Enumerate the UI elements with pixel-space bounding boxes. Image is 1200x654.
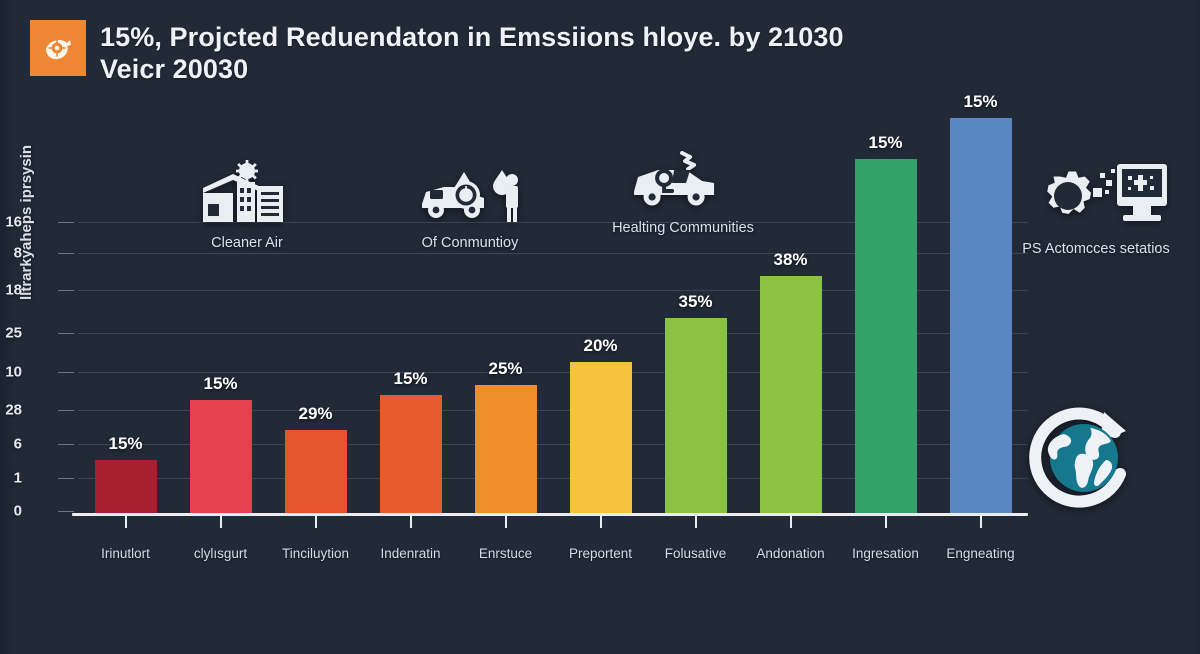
bar[interactable]: 15%	[380, 395, 442, 516]
y-tick-label: 1	[0, 470, 22, 487]
y-tick-label: 28	[0, 402, 22, 419]
title-line-1: 15%, Projcted Reduendaton in Emssiions h…	[100, 22, 844, 54]
y-tick-dash	[58, 478, 74, 479]
car-person-droplet-icon	[414, 160, 526, 227]
bar-value-label: 25%	[488, 359, 522, 379]
overlay-icon-healting-communities: Healting Communities	[612, 145, 754, 236]
y-tick-dash	[58, 222, 74, 223]
x-axis-label: Irinutlort	[101, 546, 150, 561]
overlay-icon-label: PS Actomcces setatios	[1022, 241, 1169, 257]
x-axis-label: clylısgurt	[194, 546, 247, 561]
x-tick	[220, 516, 222, 528]
x-tick	[410, 516, 412, 528]
bar[interactable]: 15%	[190, 400, 252, 516]
electric-car-icon	[628, 145, 738, 212]
x-axis-label: Tinciluytion	[282, 546, 349, 561]
y-tick-label: 0	[0, 503, 22, 520]
x-axis-label: Preportent	[569, 546, 632, 561]
bar-value-label: 15%	[203, 374, 237, 394]
y-tick-dash	[58, 511, 74, 512]
bar[interactable]: 25%	[475, 385, 537, 516]
bar[interactable]: 15%	[855, 159, 917, 516]
x-tick	[695, 516, 697, 528]
x-tick	[790, 516, 792, 528]
y-tick-dash	[58, 333, 74, 334]
bar-value-label: 15%	[393, 369, 427, 389]
x-axis-label: Enrstuce	[479, 546, 532, 561]
bar[interactable]: 29%	[285, 430, 347, 516]
x-tick	[125, 516, 127, 528]
bar[interactable]: 15%	[95, 460, 157, 516]
overlay-icon-label: Of Conmuntioy	[422, 235, 519, 251]
right-edge-vignette	[1190, 0, 1200, 654]
bar-value-label: 29%	[298, 404, 332, 424]
x-tick	[315, 516, 317, 528]
infographic-root: 15%, Projcted Reduendaton in Emssiions h…	[0, 0, 1200, 654]
bar-value-label: 38%	[773, 250, 807, 270]
bar-value-label: 35%	[678, 292, 712, 312]
bar-chart-plot: 16818251028610 15%15%29%15%25%20%35%38%1…	[78, 96, 1028, 516]
title-line-2: Veicr 20030	[100, 54, 844, 86]
y-tick-dash	[58, 444, 74, 445]
page-title: 15%, Projcted Reduendaton in Emssiions h…	[100, 20, 844, 86]
x-tick	[505, 516, 507, 528]
x-tick	[980, 516, 982, 528]
overlay-icon-cleaner-air: Cleaner Air	[193, 160, 301, 251]
gear-monitor-icon	[1021, 158, 1171, 233]
bar-value-label: 15%	[963, 92, 997, 112]
overlay-icon-label: Cleaner Air	[211, 235, 283, 251]
x-tick	[885, 516, 887, 528]
bar-value-label: 15%	[108, 434, 142, 454]
x-axis-label: Ingresation	[852, 546, 919, 561]
x-axis-label: Indenratin	[380, 546, 440, 561]
bar[interactable]: 15%	[950, 118, 1012, 516]
bar[interactable]: 35%	[665, 318, 727, 516]
y-axis-title: lltrarkyaheps iprsysin	[18, 145, 35, 300]
factory-sun-icon	[193, 160, 301, 227]
x-axis-label: Andonation	[756, 546, 824, 561]
y-tick-dash	[58, 253, 74, 254]
overlay-icon-label: Healting Communities	[612, 220, 754, 236]
header: 15%, Projcted Reduendaton in Emssiions h…	[30, 20, 844, 86]
globe-refresh-icon	[1020, 398, 1142, 521]
bar[interactable]: 20%	[570, 362, 632, 516]
y-tick-dash	[58, 290, 74, 291]
y-tick-label: 10	[0, 364, 22, 381]
overlay-icon-community: Of Conmuntioy	[414, 160, 526, 251]
y-tick-label: 25	[0, 325, 22, 342]
y-tick-dash	[58, 410, 74, 411]
leaf-eye-icon	[30, 20, 86, 76]
x-axis-label: Engneating	[946, 546, 1014, 561]
bar[interactable]: 38%	[760, 276, 822, 516]
bar-value-label: 20%	[583, 336, 617, 356]
x-axis-label: Folusative	[665, 546, 727, 561]
x-tick	[600, 516, 602, 528]
y-tick-dash	[58, 372, 74, 373]
bar-value-label: 15%	[868, 133, 902, 153]
overlay-icon-ps-access: PS Actomcces setatios	[1021, 158, 1171, 257]
y-tick-label: 6	[0, 436, 22, 453]
